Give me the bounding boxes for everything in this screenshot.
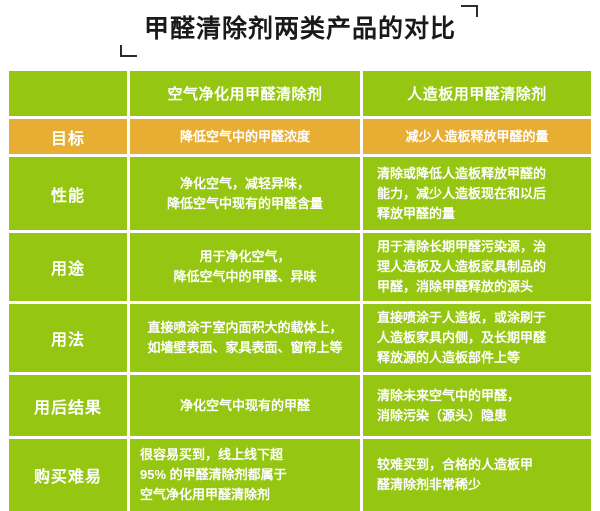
header-label-air-purifier: 空气净化用甲醛清除剂 <box>140 83 350 104</box>
row-result-col-air: 净化空气中现有的甲醛 <box>130 375 360 436</box>
header-cell-air-purifier: 空气净化用甲醛清除剂 <box>130 71 360 116</box>
row-method-col-board-text: 直接喷涂于人造板，或涂刷于 人造板家具内侧，及长期甲醛 释放源的人造板部件上等 <box>377 308 577 368</box>
row-label-purchase: 购买难易 <box>9 439 127 511</box>
row-performance-col-air: 净化空气，减轻异味， 降低空气中现有的甲醛含量 <box>130 157 360 230</box>
corner-bracket-top-right-icon <box>461 5 478 17</box>
row-goal-col-air-text: 降低空气中的甲醛浓度 <box>140 127 350 147</box>
table-row: 用法 直接喷涂于室内面积大的载体上， 如墙壁表面、家具表面、窗帘上等 直接喷涂于… <box>9 304 591 372</box>
comparison-table: 空气净化用甲醛清除剂 人造板用甲醛清除剂 目标 降低空气中的甲醛浓度 减少人造板… <box>9 71 591 511</box>
page-title: 甲醛清除剂两类产品的对比 <box>0 4 600 56</box>
row-method-col-air-text: 直接喷涂于室内面积大的载体上， 如墙壁表面、家具表面、窗帘上等 <box>140 318 350 358</box>
row-performance-col-air-text: 净化空气，减轻异味， 降低空气中现有的甲醛含量 <box>140 174 350 214</box>
row-method-col-air: 直接喷涂于室内面积大的载体上， 如墙壁表面、家具表面、窗帘上等 <box>130 304 360 372</box>
row-result-col-air-text: 净化空气中现有的甲醛 <box>140 396 350 416</box>
table-header-row: 空气净化用甲醛清除剂 人造板用甲醛清除剂 <box>9 71 591 116</box>
row-usage-col-air-text: 用于净化空气， 降低空气中的甲醛、异味 <box>140 247 350 287</box>
title-decorated-box: 甲醛清除剂两类产品的对比 <box>126 8 474 52</box>
table-row: 用后结果 净化空气中现有的甲醛 清除未来空气中的甲醛， 消除污染（源头）隐患 <box>9 375 591 436</box>
page-title-text: 甲醛清除剂两类产品的对比 <box>144 12 456 46</box>
row-label-goal-text: 目标 <box>51 125 85 149</box>
row-usage-col-board-text: 用于清除长期甲醛污染源，治 理人造板及人造板家具制品的 甲醛，消除甲醛释放的源头 <box>377 237 577 297</box>
row-usage-col-board: 用于清除长期甲醛污染源，治 理人造板及人造板家具制品的 甲醛，消除甲醛释放的源头 <box>363 233 591 301</box>
row-purchase-col-board: 较难买到，合格的人造板甲 醛清除剂非常稀少 <box>363 439 591 511</box>
row-label-method-text: 用法 <box>51 326 85 350</box>
table-row: 购买难易 很容易买到，线上线下超 95% 的甲醛清除剂都属于 空气净化用甲醛清除… <box>9 439 591 511</box>
row-purchase-col-air-text: 很容易买到，线上线下超 95% 的甲醛清除剂都属于 空气净化用甲醛清除剂 <box>140 445 350 505</box>
row-goal-col-board-text: 减少人造板释放甲醛的量 <box>377 127 577 147</box>
row-label-goal: 目标 <box>9 119 127 154</box>
row-label-usage: 用途 <box>9 233 127 301</box>
row-label-usage-text: 用途 <box>51 255 85 279</box>
row-result-col-board-text: 清除未来空气中的甲醛， 消除污染（源头）隐患 <box>377 386 577 426</box>
row-performance-col-board-text: 清除或降低人造板释放甲醛的 能力，减少人造板现在和以后 释放甲醛的量 <box>377 164 577 224</box>
table-row: 目标 降低空气中的甲醛浓度 减少人造板释放甲醛的量 <box>9 119 591 154</box>
corner-bracket-bottom-left-icon <box>120 45 137 57</box>
row-goal-col-board: 减少人造板释放甲醛的量 <box>363 119 591 154</box>
row-label-performance: 性能 <box>9 157 127 230</box>
row-label-method: 用法 <box>9 304 127 372</box>
table-row: 用途 用于净化空气， 降低空气中的甲醛、异味 用于清除长期甲醛污染源，治 理人造… <box>9 233 591 301</box>
header-cell-blank <box>9 71 127 116</box>
row-label-result-text: 用后结果 <box>34 394 102 418</box>
row-usage-col-air: 用于净化空气， 降低空气中的甲醛、异味 <box>130 233 360 301</box>
row-label-purchase-text: 购买难易 <box>34 463 102 487</box>
row-method-col-board: 直接喷涂于人造板，或涂刷于 人造板家具内侧，及长期甲醛 释放源的人造板部件上等 <box>363 304 591 372</box>
row-label-result: 用后结果 <box>9 375 127 436</box>
row-purchase-col-board-text: 较难买到，合格的人造板甲 醛清除剂非常稀少 <box>377 455 577 495</box>
row-performance-col-board: 清除或降低人造板释放甲醛的 能力，减少人造板现在和以后 释放甲醛的量 <box>363 157 591 230</box>
row-purchase-col-air: 很容易买到，线上线下超 95% 的甲醛清除剂都属于 空气净化用甲醛清除剂 <box>130 439 360 511</box>
row-result-col-board: 清除未来空气中的甲醛， 消除污染（源头）隐患 <box>363 375 591 436</box>
row-label-performance-text: 性能 <box>51 182 85 206</box>
row-goal-col-air: 降低空气中的甲醛浓度 <box>130 119 360 154</box>
header-label-board: 人造板用甲醛清除剂 <box>377 83 577 104</box>
comparison-infographic: 甲醛清除剂两类产品的对比 空气净化用甲醛清除剂 人造板用甲醛清除剂 目标 降低空… <box>0 0 600 503</box>
table-row: 性能 净化空气，减轻异味， 降低空气中现有的甲醛含量 清除或降低人造板释放甲醛的… <box>9 157 591 230</box>
header-cell-board: 人造板用甲醛清除剂 <box>363 71 591 116</box>
